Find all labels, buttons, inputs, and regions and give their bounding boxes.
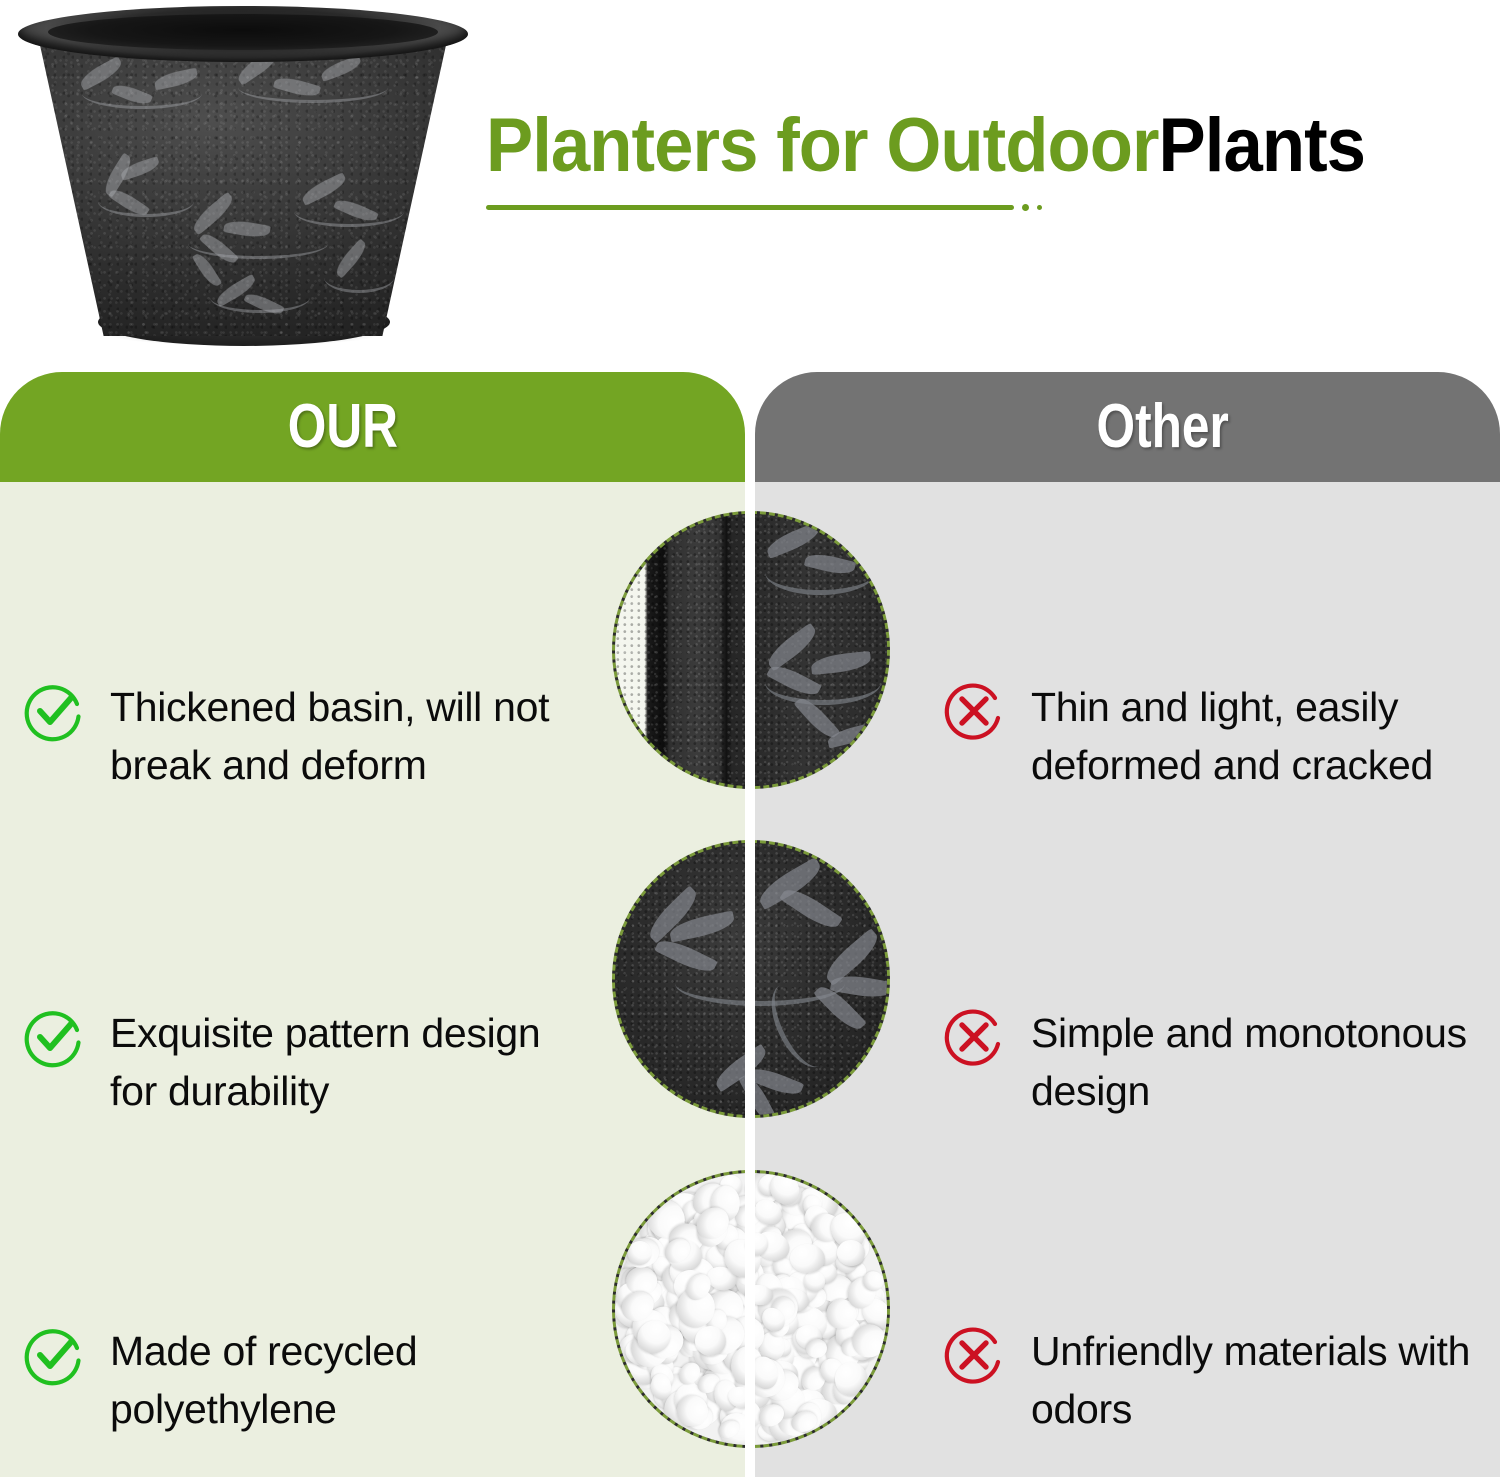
planter-product-photo — [10, 2, 480, 362]
feature-text: Unfriendly materials with odors — [1031, 1322, 1488, 1438]
feature-row: Unfriendly materials with odors — [943, 1322, 1488, 1438]
page-title-black-part: Plants — [1159, 103, 1366, 188]
stem-motif — [765, 660, 881, 705]
stem-motif — [765, 550, 875, 595]
planter-body — [38, 36, 448, 336]
feature-row: Thickened basin, will not break and defo… — [22, 678, 582, 794]
feature-text: Made of recycled polyethylene — [110, 1322, 582, 1438]
column-header-other: Other — [755, 372, 1500, 482]
page-title: Planters for OutdoorPlants — [486, 104, 1416, 188]
check-circle-icon — [22, 1324, 84, 1386]
cross-circle-icon — [943, 680, 1005, 742]
planter-stem-motif — [238, 72, 388, 103]
column-header-label-our: OUR — [287, 396, 397, 458]
planter-stem-motif — [324, 262, 394, 293]
feature-row: Thin and light, easily deformed and crac… — [943, 678, 1488, 794]
planter-stem-motif — [294, 196, 404, 227]
check-circle-icon — [22, 680, 84, 742]
feature-text: Thickened basin, will not break and defo… — [110, 678, 582, 794]
title-underline — [486, 202, 1076, 212]
planter-rim-opening — [48, 14, 438, 50]
cross-circle-icon — [943, 1006, 1005, 1068]
planter-stem-motif — [210, 282, 310, 313]
pellet — [863, 1271, 883, 1291]
page-title-green-part: Planters for Outdoor — [486, 103, 1159, 188]
column-divider — [745, 372, 755, 1477]
feature-text: Thin and light, easily deformed and crac… — [1031, 678, 1488, 794]
feature-row: Exquisite pattern design for durability — [22, 1004, 582, 1120]
title-block: Planters for OutdoorPlants — [486, 104, 1486, 212]
column-header-our: OUR — [0, 372, 745, 482]
column-header-label-other: Other — [1096, 396, 1228, 458]
title-underline-dot — [1037, 205, 1042, 210]
title-underline-dot — [1022, 204, 1029, 211]
feature-row: Simple and monotonous design — [943, 1004, 1488, 1120]
planter-stem-motif — [98, 186, 194, 217]
planter-stem-motif — [82, 78, 202, 109]
feature-text: Exquisite pattern design for durability — [110, 1004, 582, 1120]
cross-circle-icon — [943, 1324, 1005, 1386]
planter-stem-motif — [188, 228, 328, 259]
title-underline-bar — [486, 205, 1014, 210]
feature-text: Simple and monotonous design — [1031, 1004, 1488, 1120]
feature-row: Made of recycled polyethylene — [22, 1322, 582, 1438]
hero-section: Planters for OutdoorPlants — [0, 0, 1500, 372]
check-circle-icon — [22, 1006, 84, 1068]
